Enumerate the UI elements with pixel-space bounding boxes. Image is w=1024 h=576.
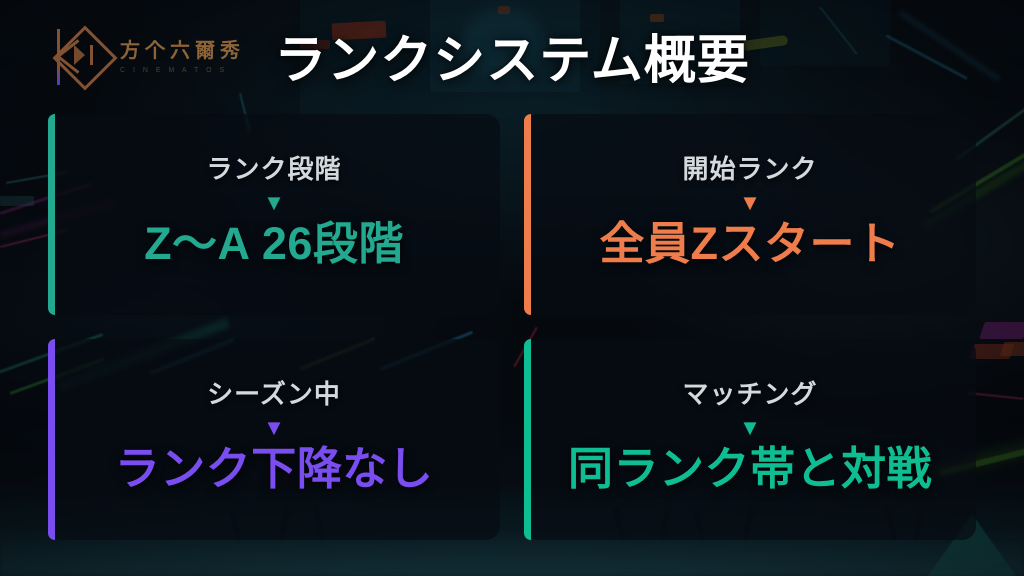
card-grid: ランク段階 ▼ Z〜A 26段階 開始ランク ▼ 全員Zスタート シーズン中 ▼…	[48, 114, 976, 540]
down-triangle-icon: ▼	[263, 417, 285, 439]
card-value: ランク下降なし	[115, 443, 434, 495]
card-value: 同ランク帯と対戦	[568, 443, 932, 495]
card-value: 全員Zスタート	[600, 218, 901, 270]
card-value: Z〜A 26段階	[144, 218, 404, 270]
card-label: 開始ランク	[682, 154, 817, 185]
down-triangle-icon: ▼	[739, 417, 761, 439]
card-starting-rank[interactable]: 開始ランク ▼ 全員Zスタート	[524, 114, 976, 315]
down-triangle-icon: ▼	[263, 192, 285, 214]
card-label: マッチング	[682, 379, 817, 410]
card-during-season[interactable]: シーズン中 ▼ ランク下降なし	[48, 339, 500, 540]
card-label: シーズン中	[207, 379, 341, 410]
card-label: ランク段階	[206, 154, 341, 185]
page-title: ランクシステム概要	[0, 34, 1024, 89]
card-matchmaking[interactable]: マッチング ▼ 同ランク帯と対戦	[524, 339, 976, 540]
slide-root: 方个六爾秀 C I N E M A T O S ランクシステム概要 ランク段階 …	[0, 0, 1024, 576]
card-rank-tiers[interactable]: ランク段階 ▼ Z〜A 26段階	[48, 114, 500, 315]
down-triangle-icon: ▼	[739, 192, 761, 214]
